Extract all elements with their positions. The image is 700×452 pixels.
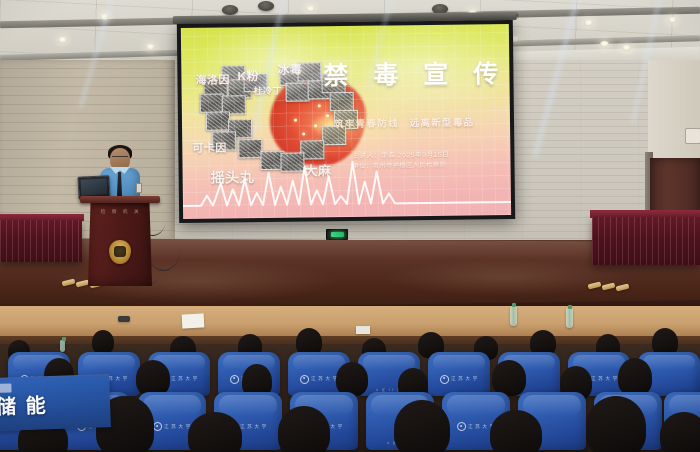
- presentation-slide: 海洛因 K粉 冰毒 杜冷丁 可卡因 摇头丸 大麻 禁 毒 宣 传 筑牢青春防线 …: [181, 24, 511, 219]
- downlight-icon: [622, 45, 631, 51]
- ceiling-speaker-icon: [258, 1, 274, 11]
- drug-label-heroin: 海洛因: [195, 71, 230, 87]
- water-bottle: [566, 308, 573, 328]
- speaker-glasses-icon: [112, 156, 128, 161]
- map-star-icon: [294, 119, 297, 122]
- audience-head-foreground: [394, 400, 450, 452]
- audience-head-foreground: [586, 396, 646, 452]
- slide-subtitle: 筑牢青春防线 远离新型毒品: [334, 114, 475, 130]
- map-star-icon: [302, 133, 305, 136]
- water-bottle: [510, 306, 517, 326]
- head-table-left-drape: [0, 220, 82, 262]
- speaker-id-badge: [136, 183, 142, 193]
- projection-screen: 海洛因 K粉 冰毒 杜冷丁 可卡因 摇头丸 大麻 禁 毒 宣 传 筑牢青春防线 …: [177, 20, 515, 223]
- downlight-icon: [600, 41, 609, 47]
- seat-logo-icon: 江 苏 大 学: [153, 422, 191, 431]
- audience-head-foreground: [278, 406, 330, 452]
- drug-photo-tile: [200, 93, 224, 112]
- head-table-right-drape: [592, 217, 700, 265]
- desk-paper-sheet: [356, 326, 370, 334]
- auditorium-photo: 海洛因 K粉 冰毒 杜冷丁 可卡因 摇头丸 大麻 禁 毒 宣 传 筑牢青春防线 …: [0, 0, 700, 452]
- downlight-icon: [58, 37, 67, 43]
- audience-head-foreground: [490, 410, 542, 452]
- drug-photo-tile: [206, 111, 230, 130]
- downlight-icon: [146, 44, 155, 50]
- audience-head: [136, 360, 170, 396]
- audience-head: [618, 358, 652, 396]
- wall-control-panel[interactable]: [685, 128, 700, 144]
- drug-label-meth: 冰毒: [277, 61, 302, 78]
- water-bottle: [60, 340, 65, 352]
- audience-head: [492, 360, 526, 396]
- ceiling-speaker-icon: [222, 5, 238, 15]
- slide-title: 禁 毒 宣 传: [323, 54, 507, 92]
- seat-logo-icon: 江 苏 大 学: [440, 375, 478, 384]
- sponsor-banner: 储 能: [0, 374, 111, 431]
- podium-front-text: 检 察 机 关: [95, 209, 147, 215]
- exit-sign: [326, 229, 348, 240]
- map-star-icon: [318, 104, 321, 107]
- audience-head: [92, 330, 114, 354]
- map-star-icon: [326, 114, 329, 117]
- auditorium-seat[interactable]: 江 苏 大 学: [428, 352, 490, 396]
- speaker-podium: 检 察 机 关: [84, 196, 156, 286]
- drug-label-pethidine: 杜冷丁: [254, 84, 283, 97]
- downlight-icon: [306, 6, 315, 12]
- screen-frame: 海洛因 K粉 冰毒 杜冷丁 可卡因 摇头丸 大麻 禁 毒 宣 传 筑牢青春防线 …: [177, 20, 515, 223]
- drug-photo-tile: [330, 92, 354, 111]
- desk-remote[interactable]: [118, 316, 130, 322]
- podium-surface: [80, 196, 160, 203]
- seat-logo-icon: 江 苏 大 学: [300, 375, 338, 384]
- audience-head: [336, 362, 368, 396]
- desk-paper-sheet: [182, 313, 205, 328]
- audience-area: 江 苏 大 学 江 苏 大 学 江 苏 大 学 江 苏 大 学 江 苏 大 学 …: [0, 300, 700, 452]
- drug-photo-tile: [286, 82, 310, 101]
- drug-label-ketamine: K粉: [237, 67, 259, 84]
- banner-logo-icon: [0, 383, 12, 392]
- audience-head-foreground: [188, 412, 242, 452]
- downlight-icon: [584, 20, 593, 26]
- banner-text: 储 能: [0, 389, 48, 420]
- map-star-icon: [314, 124, 317, 127]
- audience-head-foreground: [660, 412, 700, 452]
- downlight-icon: [100, 14, 109, 20]
- waveform-graphic: [182, 150, 511, 212]
- downlight-icon: [668, 17, 677, 23]
